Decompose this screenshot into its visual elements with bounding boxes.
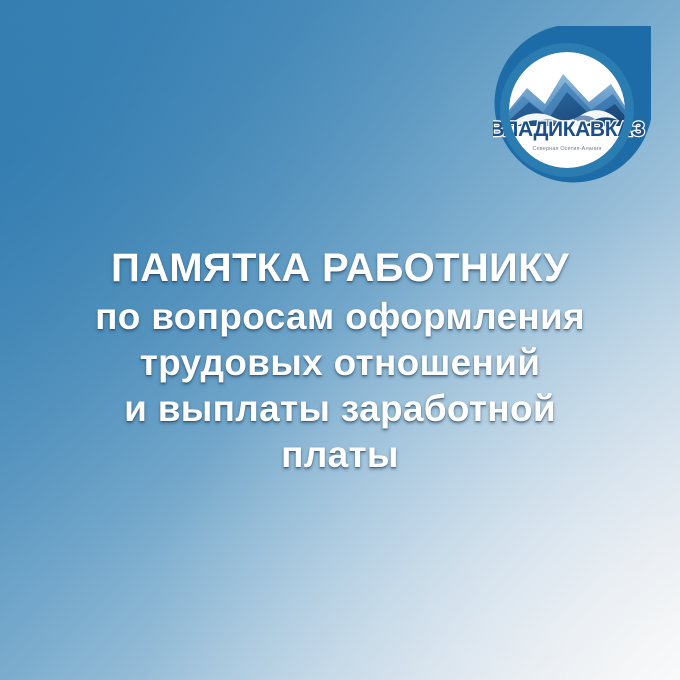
headline-line-5: платы: [28, 436, 652, 473]
vladikavkaz-logo: ВЛАДИКАВКАЗ Северная Осетия-Алания: [493, 26, 651, 184]
poster-canvas: ВЛАДИКАВКАЗ Северная Осетия-Алания ПАМЯТ…: [0, 0, 680, 680]
headline-line-1: ПАМЯТКА РАБОТНИКУ: [28, 248, 652, 288]
poster-headline: ПАМЯТКА РАБОТНИКУ по вопросам оформления…: [0, 248, 680, 473]
headline-line-3: трудовых отношений: [28, 344, 652, 381]
logo-subtitle: Северная Осетия-Алания: [532, 146, 601, 152]
headline-line-4: и выплаты заработной: [28, 390, 652, 427]
headline-line-2: по вопросам оформления: [28, 298, 652, 335]
